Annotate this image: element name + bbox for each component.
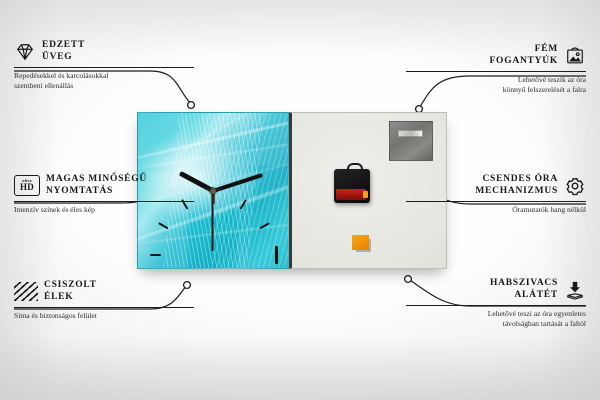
feature-tempered-glass: EDZETT ÜVEG Repedésekkel és karcolásokka… (14, 40, 194, 90)
feature-title-line1: FÉM (490, 44, 559, 56)
feature-title-line2: ÜVEG (42, 52, 85, 64)
battery (336, 189, 366, 201)
metal-hanger-plate (389, 121, 433, 161)
feature-subtitle-line2: távolságban tartását a faltól (406, 319, 586, 329)
feature-title-line2: FOGANTYÚK (490, 56, 559, 68)
gear-icon (564, 176, 586, 196)
divider (14, 201, 194, 202)
feature-subtitle-line1: Lehetővé teszi az óra egyenletes (406, 309, 586, 319)
ultra-hd-badge-icon: ultraHD (14, 175, 40, 196)
divider (14, 67, 194, 68)
feature-high-quality-print: ultraHD MAGAS MINŐSÉGŰ NYOMTATÁS Intenzí… (14, 174, 194, 215)
polished-edges-icon (14, 282, 38, 301)
divider (14, 307, 194, 308)
feature-silent-mechanism: CSENDES ÓRA MECHANIZMUS Óramutatók hang … (406, 174, 586, 215)
feature-subtitle-line2: szembeni ellenállás (14, 81, 194, 91)
clock-center-hub (210, 188, 216, 194)
feature-foam-pad: HABSZIVACS ALÁTÉT Lehetővé teszi az óra … (406, 278, 586, 328)
feature-title-line1: EDZETT (42, 40, 85, 52)
divider (406, 71, 586, 72)
feature-subtitle-line1: Óramutatók hang nélkül (406, 205, 586, 215)
clock-marker-9 (150, 254, 214, 256)
feature-title-line1: CSENDES ÓRA (475, 174, 558, 186)
feature-title-line2: ALÁTÉT (490, 290, 558, 302)
feature-subtitle-line2: könnyű felszerelését a falra (406, 85, 586, 95)
feature-metal-handles: FÉM FOGANTYÚK Lehetővé teszik az óra kön… (406, 44, 586, 94)
endpoint-tempered-glass (188, 102, 195, 109)
feature-subtitle-line1: Sima és biztonságos felület (14, 311, 194, 321)
feature-title-line2: ÉLEK (44, 292, 97, 304)
foam-spacer-pad (352, 235, 369, 250)
hanger-loop-icon (347, 163, 363, 174)
arrow-onto-pad-icon (564, 280, 586, 300)
divider (406, 305, 586, 306)
diamond-icon (14, 42, 36, 62)
divider (406, 201, 586, 202)
feature-title-line1: HABSZIVACS (490, 278, 558, 290)
feature-subtitle-line1: Lehetővé teszik az óra (406, 75, 586, 85)
feature-title-line1: CSISZOLT (44, 280, 97, 292)
feature-title-line2: NYOMTATÁS (46, 186, 147, 198)
wall-hanging-picture-icon (564, 46, 586, 66)
feature-polished-edges: CSISZOLT ÉLEK Sima és biztonságos felüle… (14, 280, 194, 321)
quiet-clock-movement (334, 169, 370, 203)
clock-marker-3 (214, 254, 278, 256)
feature-subtitle-line1: Repedésekkel és karcolásokkal (14, 71, 194, 81)
feature-title-line2: MECHANIZMUS (475, 186, 558, 198)
feature-title-line1: MAGAS MINŐSÉGŰ (46, 174, 147, 186)
feature-subtitle-line1: Intenzív színek és éles kép (14, 205, 194, 215)
infographic-canvas: EDZETT ÜVEG Repedésekkel és karcolásokka… (0, 0, 600, 400)
